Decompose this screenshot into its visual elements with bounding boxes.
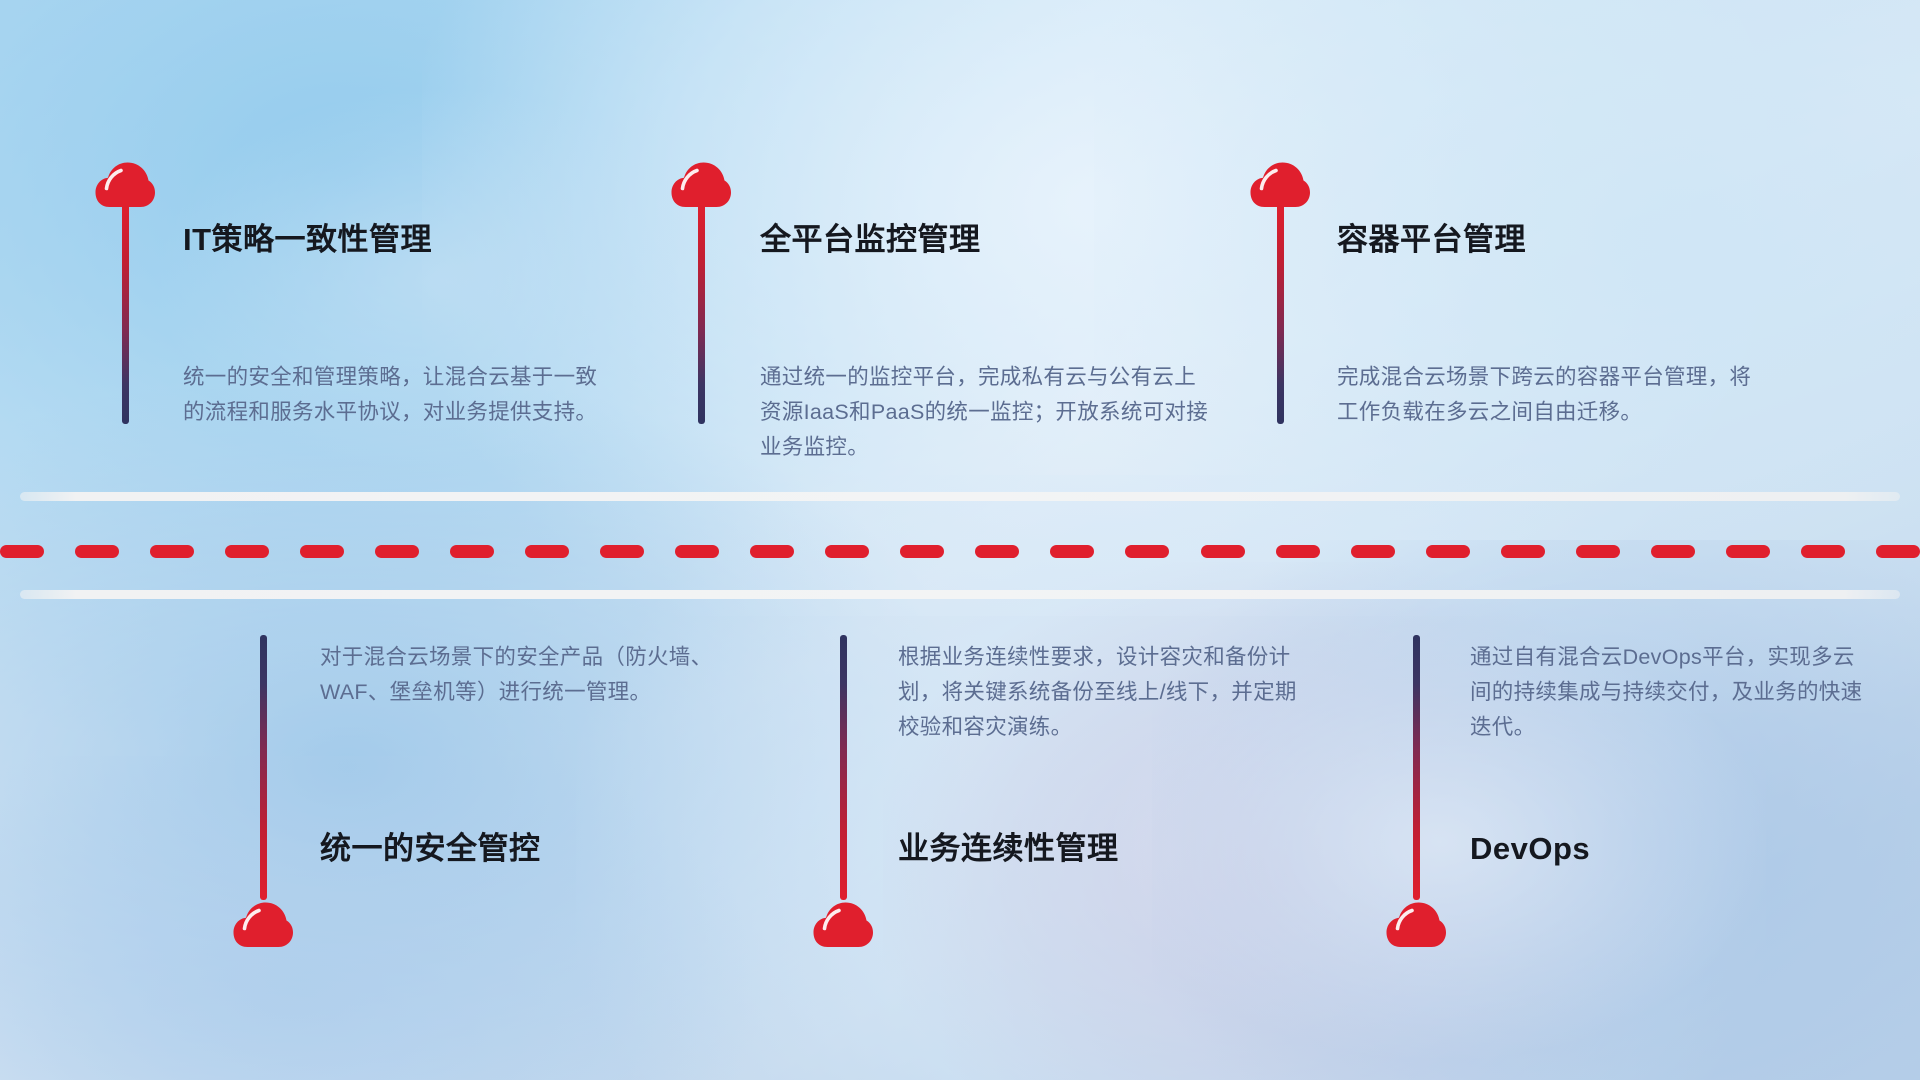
feature-body: 通过统一的监控平台，完成私有云与公有云上资源IaaS和PaaS的统一监控；开放系…	[760, 360, 1212, 464]
feature-body: 根据业务连续性要求，设计容灾和备份计划，将关键系统备份至线上/线下，并定期校验和…	[898, 640, 1318, 744]
cloud-icon	[232, 900, 294, 950]
cloud-icon	[812, 900, 874, 950]
divider-dash	[150, 545, 194, 558]
divider-dash	[525, 545, 569, 558]
divider-dash	[1876, 545, 1920, 558]
feature-heading: 业务连续性管理	[898, 833, 1119, 864]
divider-dash	[0, 545, 44, 558]
feature-body: 对于混合云场景下的安全产品（防火墙、WAF、堡垒机等）进行统一管理。	[320, 640, 740, 710]
divider-dash	[1050, 545, 1094, 558]
divider-dashed-red	[0, 545, 1920, 558]
divider-dash	[1276, 545, 1320, 558]
divider-dash	[975, 545, 1019, 558]
divider-dash	[75, 545, 119, 558]
divider-dash	[300, 545, 344, 558]
feature-body: 完成混合云场景下跨云的容器平台管理，将工作负载在多云之间自由迁移。	[1337, 360, 1767, 430]
cloud-icon	[1249, 160, 1311, 210]
feature-heading: DevOps	[1470, 833, 1590, 864]
divider-dash	[1576, 545, 1620, 558]
divider-dash	[825, 545, 869, 558]
cloud-pin-top-1	[94, 160, 158, 210]
divider-dash	[750, 545, 794, 558]
cloud-pin-top-3	[1249, 160, 1313, 210]
cloud-icon	[670, 160, 732, 210]
divider-dash	[1501, 545, 1545, 558]
divider-dash	[450, 545, 494, 558]
divider-dash	[1201, 545, 1245, 558]
feature-heading: 统一的安全管控	[320, 833, 541, 864]
cloud-icon	[1385, 900, 1447, 950]
divider-dash	[225, 545, 269, 558]
divider-dash	[1651, 545, 1695, 558]
feature-heading: 全平台监控管理	[760, 224, 981, 255]
divider-dash	[675, 545, 719, 558]
divider-dash	[600, 545, 644, 558]
cloud-icon	[94, 160, 156, 210]
divider-line-bottom	[20, 590, 1900, 599]
divider-line-top	[20, 492, 1900, 501]
feature-heading: IT策略一致性管理	[183, 224, 432, 255]
divider-dash	[1726, 545, 1770, 558]
divider-dash	[1125, 545, 1169, 558]
divider-dash	[900, 545, 944, 558]
feature-body: 通过自有混合云DevOps平台，实现多云间的持续集成与持续交付，及业务的快速迭代…	[1470, 640, 1870, 744]
divider-dash	[375, 545, 419, 558]
feature-heading: 容器平台管理	[1337, 224, 1526, 255]
divider-dash	[1351, 545, 1395, 558]
cloud-pin-top-2	[670, 160, 734, 210]
divider-dash	[1801, 545, 1845, 558]
feature-body: 统一的安全和管理策略，让混合云基于一致的流程和服务水平协议，对业务提供支持。	[183, 360, 615, 430]
divider-dash	[1426, 545, 1470, 558]
